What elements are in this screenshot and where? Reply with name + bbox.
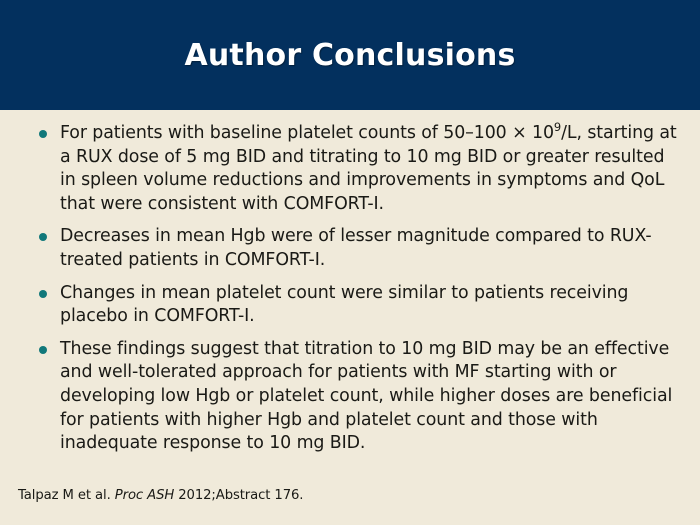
- bullet-text-part-before: For patients with baseline platelet coun…: [60, 123, 554, 143]
- bullet-dot-icon: [39, 130, 47, 138]
- citation-reference: 2012;Abstract 176.: [174, 488, 303, 503]
- bullet-text-hgb-decrease: Decreases in mean Hgb were of lesser mag…: [60, 225, 685, 272]
- citation-journal: Proc ASH: [115, 488, 174, 503]
- bullet-text-findings-summary: These findings suggest that titration to…: [60, 338, 685, 456]
- bullet-text-platelet-change: Changes in mean platelet count were simi…: [60, 282, 685, 329]
- slide-header-band: Author Conclusions: [0, 0, 700, 110]
- list-item: Decreases in mean Hgb were of lesser mag…: [30, 225, 685, 272]
- citation-authors: Talpaz M et al.: [18, 488, 115, 503]
- slide-root: Author Conclusions For patients with bas…: [0, 0, 700, 525]
- bullet-dot-icon: [39, 233, 47, 241]
- bullet-dot-icon: [39, 346, 47, 354]
- list-item: For patients with baseline platelet coun…: [30, 122, 685, 216]
- list-item: These findings suggest that titration to…: [30, 338, 685, 456]
- bullet-dot-icon: [39, 290, 47, 298]
- bullet-text-platelet-dosing: For patients with baseline platelet coun…: [60, 122, 685, 216]
- conclusions-bullet-list: For patients with baseline platelet coun…: [30, 122, 685, 465]
- list-item: Changes in mean platelet count were simi…: [30, 282, 685, 329]
- page-title: Author Conclusions: [164, 39, 535, 72]
- citation-line: Talpaz M et al. Proc ASH 2012;Abstract 1…: [18, 488, 303, 504]
